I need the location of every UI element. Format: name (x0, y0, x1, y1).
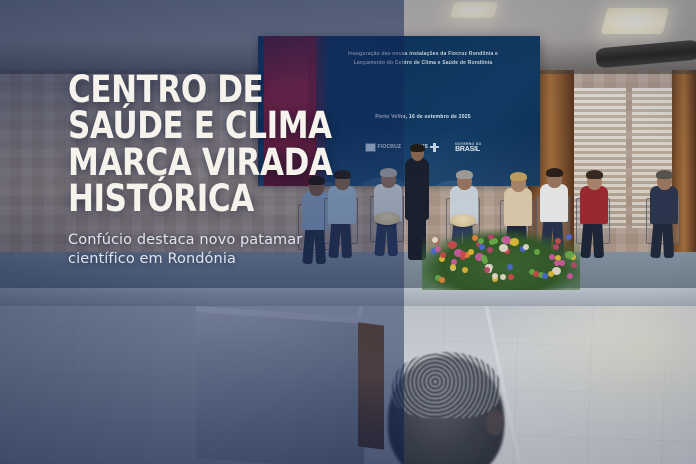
subtitle-line-1: Confúcio destaca novo patamar (68, 231, 368, 250)
headline-line-2: SAÚDE E CLIMA (68, 108, 347, 144)
page-title: CENTRO DE SAÚDE E CLIMA MARCA VIRADA HIS… (68, 72, 347, 217)
article-hero-image: Inauguração das novas instalações da Fio… (0, 0, 696, 464)
subtitle-line-2: científico em Rondónia (68, 250, 368, 269)
headline-line-4: HISTÓRICA (68, 181, 347, 217)
hero-text-block: CENTRO DE SAÚDE E CLIMA MARCA VIRADA HIS… (68, 72, 368, 269)
hero-subtitle: Confúcio destaca novo patamar científico… (68, 231, 368, 269)
headline-line-1: CENTRO DE (68, 72, 347, 108)
headline-line-3: MARCA VIRADA (68, 145, 347, 181)
